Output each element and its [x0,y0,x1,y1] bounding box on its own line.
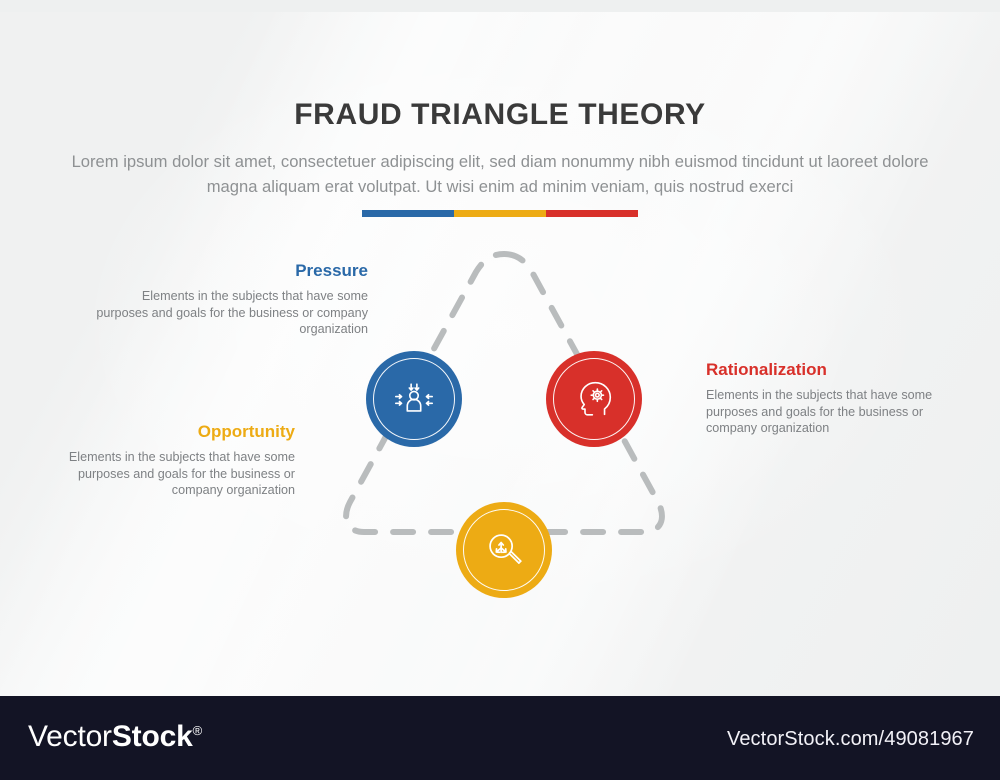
label-title-pressure: Pressure [88,261,368,281]
label-block-rationalization: Rationalization Elements in the subjects… [706,360,956,437]
wordmark-bold: Stock [112,720,193,753]
accent-segment-red [546,210,638,217]
screenshot-root: FRAUD TRIANGLE THEORY Lorem ipsum dolor … [0,0,1000,780]
label-body-opportunity: Elements in the subjects that have some … [45,449,295,499]
label-block-opportunity: Opportunity Elements in the subjects tha… [45,422,295,499]
footer-url: VectorStock.com/49081967 [727,728,974,751]
vectorstock-logo: VectorStock® [28,720,202,754]
node-opportunity[interactable] [456,502,552,598]
page-title: FRAUD TRIANGLE THEORY [0,98,1000,132]
wordmark-light: Vector [28,720,112,753]
person-pressure-arrows-icon [366,351,462,447]
infographic-artboard: FRAUD TRIANGLE THEORY Lorem ipsum dolor … [0,12,1000,696]
accent-segment-yellow [454,210,546,217]
label-block-pressure: Pressure Elements in the subjects that h… [88,261,368,338]
magnifier-branching-arrows-icon [456,502,552,598]
node-pressure[interactable] [366,351,462,447]
label-body-pressure: Elements in the subjects that have some … [88,288,368,338]
node-rationalization[interactable] [546,351,642,447]
label-title-opportunity: Opportunity [45,422,295,442]
footer-bar: VectorStock® VectorStock.com/49081967 [0,696,1000,780]
registered-mark-icon: ® [193,723,202,738]
page-subtitle: Lorem ipsum dolor sit amet, consectetuer… [65,149,935,199]
accent-bar [362,210,638,217]
head-gear-icon [546,351,642,447]
accent-segment-blue [362,210,454,217]
label-title-rationalization: Rationalization [706,360,956,380]
label-body-rationalization: Elements in the subjects that have some … [706,387,956,437]
